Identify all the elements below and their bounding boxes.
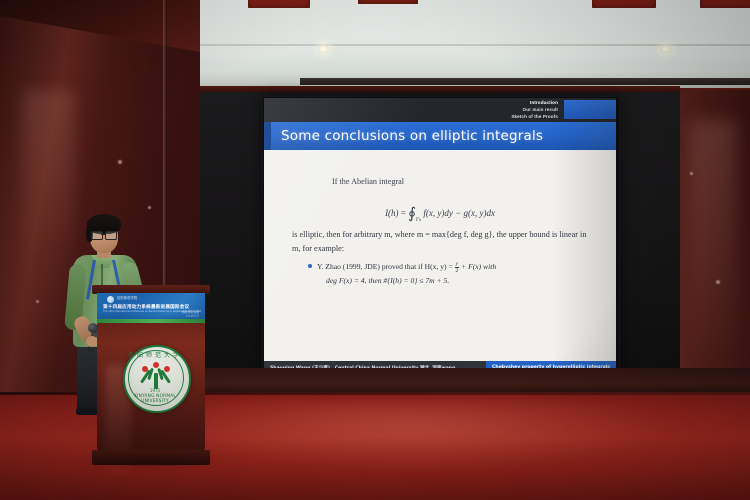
conference-banner: 信阳师范学院 第十四届应用动力系统最新进展国际会议 The 14th Inter… xyxy=(97,293,205,319)
slide-line-2: is elliptic, then for arbitrary m, where… xyxy=(292,228,592,255)
floor-sheen xyxy=(200,400,680,470)
bullet-dot-icon xyxy=(308,264,312,268)
slide-bullet-list: Y. Zhao (1999, JDE) proved that if H(x, … xyxy=(308,260,598,287)
fraction-denominator: 2 xyxy=(456,268,459,274)
emblem-english-name: XINYANG NORMAL UNIVERSITY xyxy=(125,394,185,404)
dust-speck xyxy=(690,172,693,175)
podium-floor-shadow xyxy=(84,455,218,467)
emblem-tree-icon xyxy=(141,363,171,389)
fraction: y2 xyxy=(455,261,459,274)
dust-speck xyxy=(36,300,39,303)
title-accent-block xyxy=(264,122,271,150)
conference-room-photo: Introduction Our main result Sketch of t… xyxy=(0,0,750,500)
equation-equals: = xyxy=(401,208,406,218)
downlight xyxy=(660,45,671,53)
slide-equation: I(h) = ∮Γh f(x, y)dy − g(x, y)dx xyxy=(264,202,616,223)
slide-content: If the Abelian integral I(h) = ∮Γh f(x, … xyxy=(264,150,616,354)
dust-speck xyxy=(118,160,122,164)
dust-speck xyxy=(148,206,151,209)
glasses-icon xyxy=(91,231,117,238)
tree-fruit-dot xyxy=(153,362,159,368)
glasses-lens-right xyxy=(105,231,117,240)
stage-front-edge xyxy=(200,368,750,394)
tree-stem xyxy=(154,373,158,389)
ceiling-panel xyxy=(248,0,310,8)
bullet-text-c: deg F(x) = 4, then #{I(h) = 0} ≤ 7m + 5. xyxy=(308,274,598,287)
ceiling-panel xyxy=(592,0,656,8)
equation-lhs: I(h) xyxy=(385,208,399,218)
tree-fruit-dot xyxy=(164,366,170,372)
dust-speck xyxy=(716,280,720,284)
slide-title-bar: Some conclusions on elliptic integrals xyxy=(264,122,616,150)
banner-skyline-strip xyxy=(97,312,205,319)
tree-fruit-dot xyxy=(142,366,148,372)
glasses-lens-left xyxy=(91,231,103,240)
ceiling-panel xyxy=(700,0,750,8)
podium-body: 信阳师范大学 1975 XINYANG NORMAL UNIVERSITY xyxy=(97,323,205,450)
nav-item-introduction: Introduction xyxy=(438,99,558,106)
polo-placket xyxy=(101,264,103,286)
equation-subscript-index: h xyxy=(419,217,421,222)
ceiling-panel xyxy=(358,0,418,4)
emblem-chinese-name: 信阳师范大学 xyxy=(125,350,185,359)
bullet-text-b: + F(x) with xyxy=(461,262,496,271)
nav-progress-chip xyxy=(564,100,616,119)
slide-navigation-bar: Introduction Our main result Sketch of t… xyxy=(264,98,616,122)
banner-logo-label: 信阳师范学院 xyxy=(117,295,137,300)
slide-intro-line: If the Abelian integral xyxy=(332,177,404,186)
contour-integral-icon: ∮ xyxy=(408,206,416,222)
slide-title: Some conclusions on elliptic integrals xyxy=(271,128,543,144)
nav-item-sketch-of-the-proofs: Sketch of the Proofs xyxy=(438,113,558,120)
equation-integrand: f(x, y)dy − g(x, y)dx xyxy=(423,208,495,218)
university-emblem: 信阳师范大学 1975 XINYANG NORMAL UNIVERSITY xyxy=(123,345,191,413)
slide-nav-items: Introduction Our main result Sketch of t… xyxy=(438,99,558,120)
presentation-slide: Introduction Our main result Sketch of t… xyxy=(264,98,616,374)
emblem-founding-year: 1975 xyxy=(125,388,185,393)
bullet-text-a: Y. Zhao (1999, JDE) proved that if H(x, … xyxy=(317,262,453,271)
soffit-shadow xyxy=(300,78,750,85)
podium: 信阳师范学院 第十四届应用动力系统最新进展国际会议 The 14th Inter… xyxy=(92,285,210,465)
nav-item-our-main-result: Our main result xyxy=(438,106,558,113)
university-logo-icon xyxy=(107,296,114,303)
right-wall-sheen xyxy=(690,120,736,350)
downlight xyxy=(318,45,329,53)
fraction-numerator: y xyxy=(455,261,459,268)
